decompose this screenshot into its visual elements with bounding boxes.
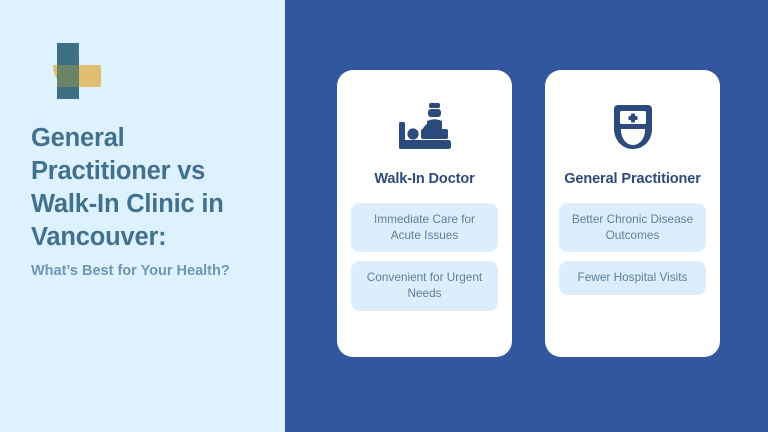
headline-block: General Practitioner vs Walk-In Clinic i… [31, 122, 263, 281]
right-panel: Walk-In Doctor Immediate Care for Acute … [285, 0, 768, 432]
card-title: Walk-In Doctor [374, 170, 474, 189]
left-panel: General Practitioner vs Walk-In Clinic i… [0, 0, 285, 432]
patient-in-bed-with-caregiver-icon [394, 96, 456, 158]
page-title: General Practitioner vs Walk-In Clinic i… [31, 122, 263, 255]
benefit-pill: Better Chronic Disease Outcomes [559, 203, 706, 252]
benefit-pill-list: Immediate Care for Acute Issues Convenie… [351, 203, 498, 310]
medical-cross-logo [31, 34, 105, 108]
benefit-pill-list: Better Chronic Disease Outcomes Fewer Ho… [559, 203, 706, 295]
card-walk-in-doctor[interactable]: Walk-In Doctor Immediate Care for Acute … [337, 70, 512, 357]
slide-root: General Practitioner vs Walk-In Clinic i… [0, 0, 768, 432]
benefit-pill: Fewer Hospital Visits [559, 261, 706, 295]
page-subtitle: What’s Best for Your Health? [31, 261, 236, 281]
benefit-pill: Convenient for Urgent Needs [351, 261, 498, 310]
cards-row: Walk-In Doctor Immediate Care for Acute … [337, 70, 720, 357]
card-title: General Practitioner [564, 170, 701, 189]
benefit-pill: Immediate Care for Acute Issues [351, 203, 498, 252]
card-general-practitioner[interactable]: General Practitioner Better Chronic Dise… [545, 70, 720, 357]
doctor-head-with-cross-cap-icon [602, 96, 664, 158]
